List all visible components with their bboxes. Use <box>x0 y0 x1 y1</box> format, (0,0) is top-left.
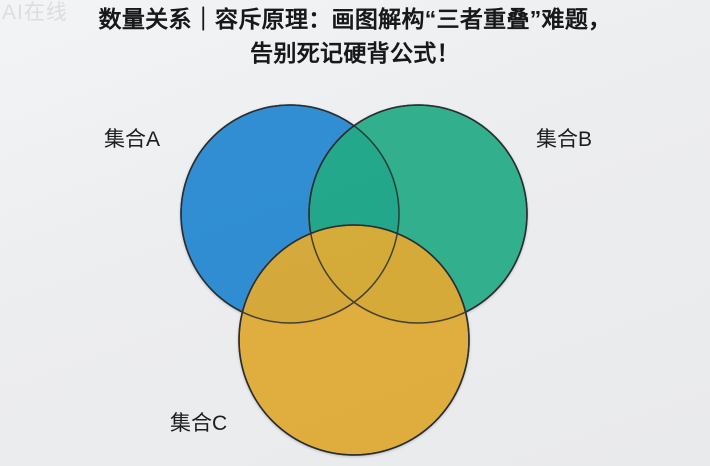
slide-canvas: AI在线 数量关系｜容斥原理：画图解构“三者重叠”难题， 告别死记硬背公式！ 集… <box>0 0 710 466</box>
title-line-2: 告别死记硬背公式！ <box>0 36 710 70</box>
venn-circle-group <box>181 105 527 455</box>
venn-label-set-a: 集合A <box>104 128 160 152</box>
venn-label-set-b: 集合B <box>536 128 592 152</box>
title-line-1: 数量关系｜容斥原理：画图解构“三者重叠”难题， <box>0 2 710 36</box>
venn-circle-set-c[interactable] <box>239 225 469 455</box>
page-title: 数量关系｜容斥原理：画图解构“三者重叠”难题， 告别死记硬背公式！ <box>0 2 710 70</box>
venn-label-set-c: 集合C <box>170 412 227 436</box>
